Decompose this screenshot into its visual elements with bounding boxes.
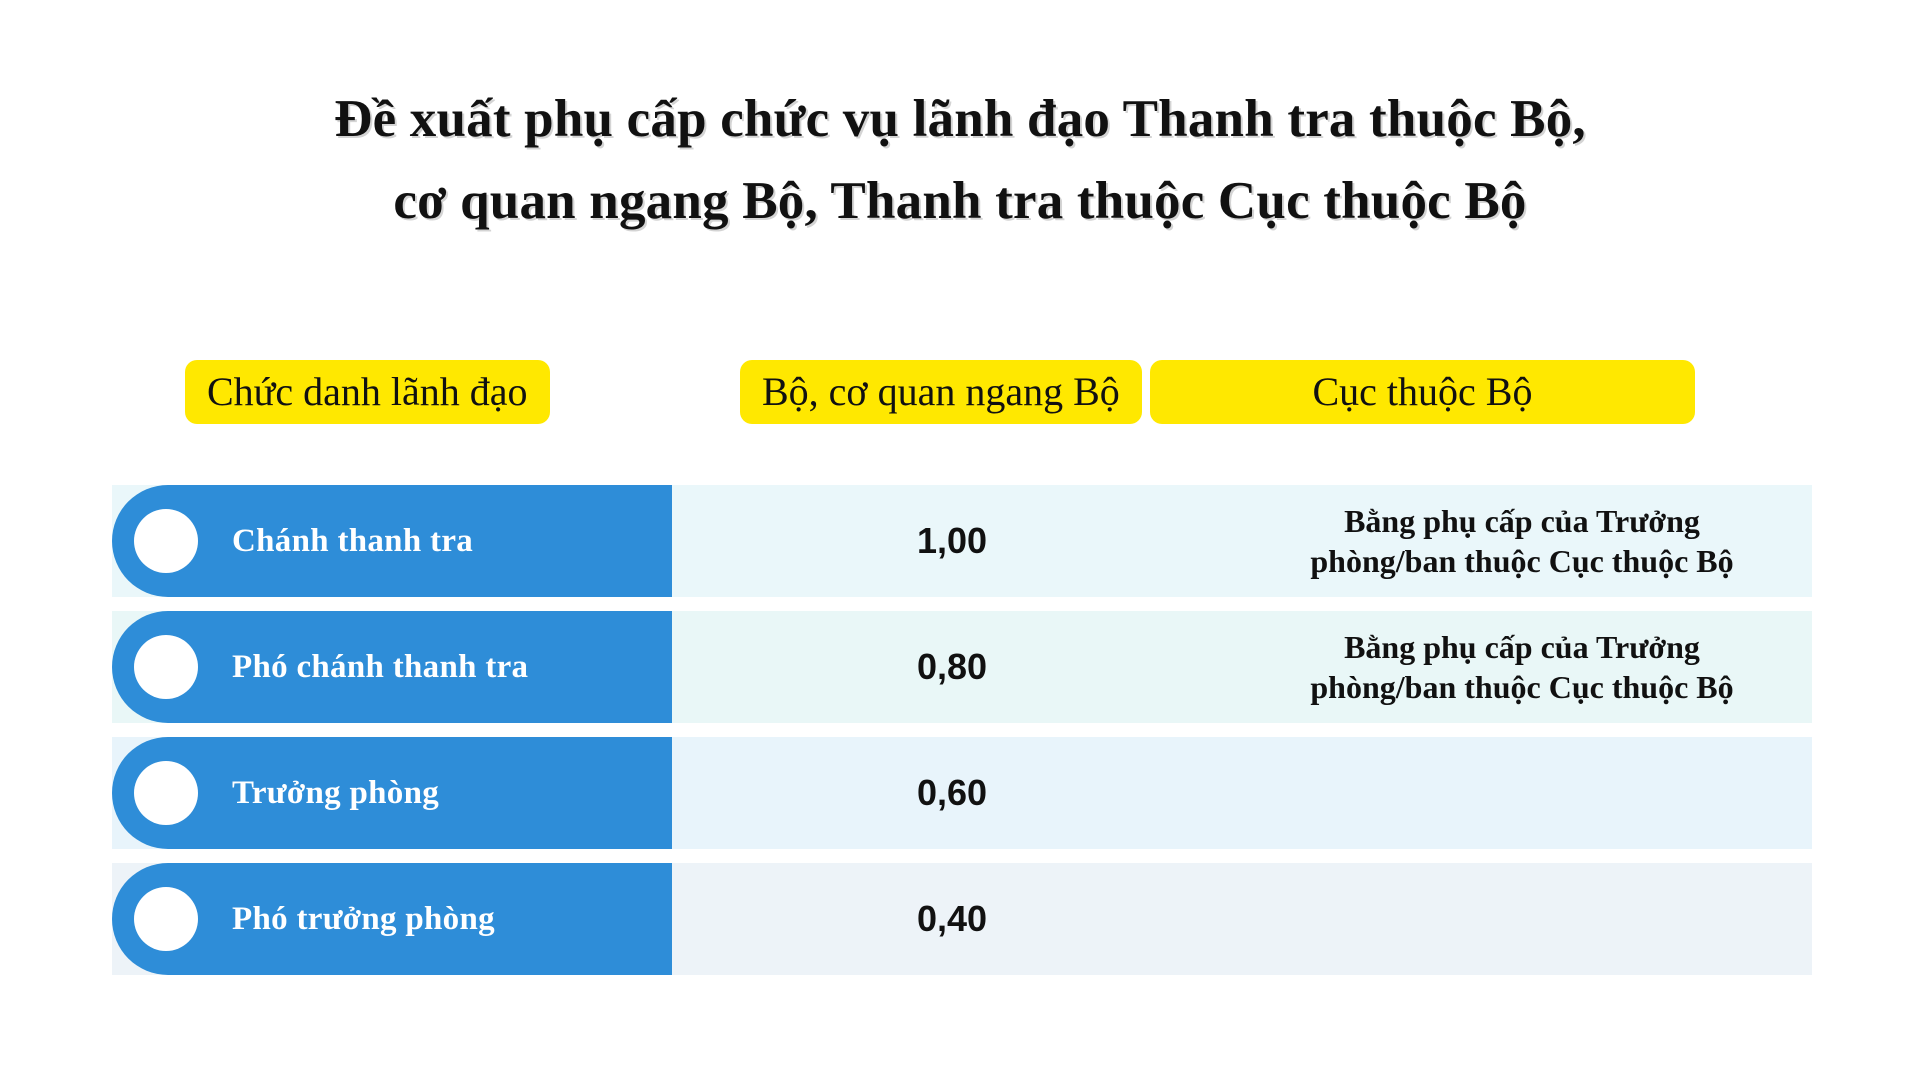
department-allowance-note: Bằng phụ cấp của Trưởng phòng/ban thuộc … [1232, 485, 1812, 597]
ministry-allowance-value: 0,60 [672, 737, 1232, 849]
column-header-position: Chức danh lãnh đạo [185, 360, 550, 424]
position-label: Phó chánh thanh tra [232, 611, 648, 723]
allowance-table: Chánh thanh tra 1,00 Bằng phụ cấp của Tr… [112, 485, 1812, 989]
page-title-line-2: cơ quan ngang Bộ, Thanh tra thuộc Cục th… [0, 160, 1920, 242]
department-allowance-note [1232, 863, 1812, 975]
position-label: Trưởng phòng [232, 737, 648, 849]
department-allowance-note [1232, 737, 1812, 849]
table-row: Trưởng phòng 0,60 [112, 737, 1812, 849]
table-row: Phó chánh thanh tra 0,80 Bằng phụ cấp củ… [112, 611, 1812, 723]
department-allowance-note: Bằng phụ cấp của Trưởng phòng/ban thuộc … [1232, 611, 1812, 723]
position-pill: Phó trưởng phòng [112, 863, 672, 975]
position-label: Chánh thanh tra [232, 485, 648, 597]
position-pill: Trưởng phòng [112, 737, 672, 849]
department-note-line-2: phòng/ban thuộc Cục thuộc Bộ [1310, 541, 1733, 581]
ministry-allowance-value: 1,00 [672, 485, 1232, 597]
table-row: Phó trưởng phòng 0,40 [112, 863, 1812, 975]
page-title: Đề xuất phụ cấp chức vụ lãnh đạo Thanh t… [0, 78, 1920, 242]
department-note-line-2: phòng/ban thuộc Cục thuộc Bộ [1310, 667, 1733, 707]
position-pill: Phó chánh thanh tra [112, 611, 672, 723]
page-title-line-1: Đề xuất phụ cấp chức vụ lãnh đạo Thanh t… [0, 78, 1920, 160]
ministry-allowance-value: 0,40 [672, 863, 1232, 975]
position-pill: Chánh thanh tra [112, 485, 672, 597]
position-label: Phó trưởng phòng [232, 863, 648, 975]
table-header-row: Chức danh lãnh đạo Bộ, cơ quan ngang Bộ … [0, 360, 1920, 432]
bullet-circle-icon [134, 887, 198, 951]
ministry-allowance-value: 0,80 [672, 611, 1232, 723]
bullet-circle-icon [134, 509, 198, 573]
bullet-circle-icon [134, 761, 198, 825]
column-header-ministry: Bộ, cơ quan ngang Bộ [740, 360, 1142, 424]
department-note-line-1: Bằng phụ cấp của Trưởng [1310, 501, 1733, 541]
department-note-line-1: Bằng phụ cấp của Trưởng [1310, 627, 1733, 667]
column-header-department: Cục thuộc Bộ [1150, 360, 1695, 424]
table-row: Chánh thanh tra 1,00 Bằng phụ cấp của Tr… [112, 485, 1812, 597]
bullet-circle-icon [134, 635, 198, 699]
